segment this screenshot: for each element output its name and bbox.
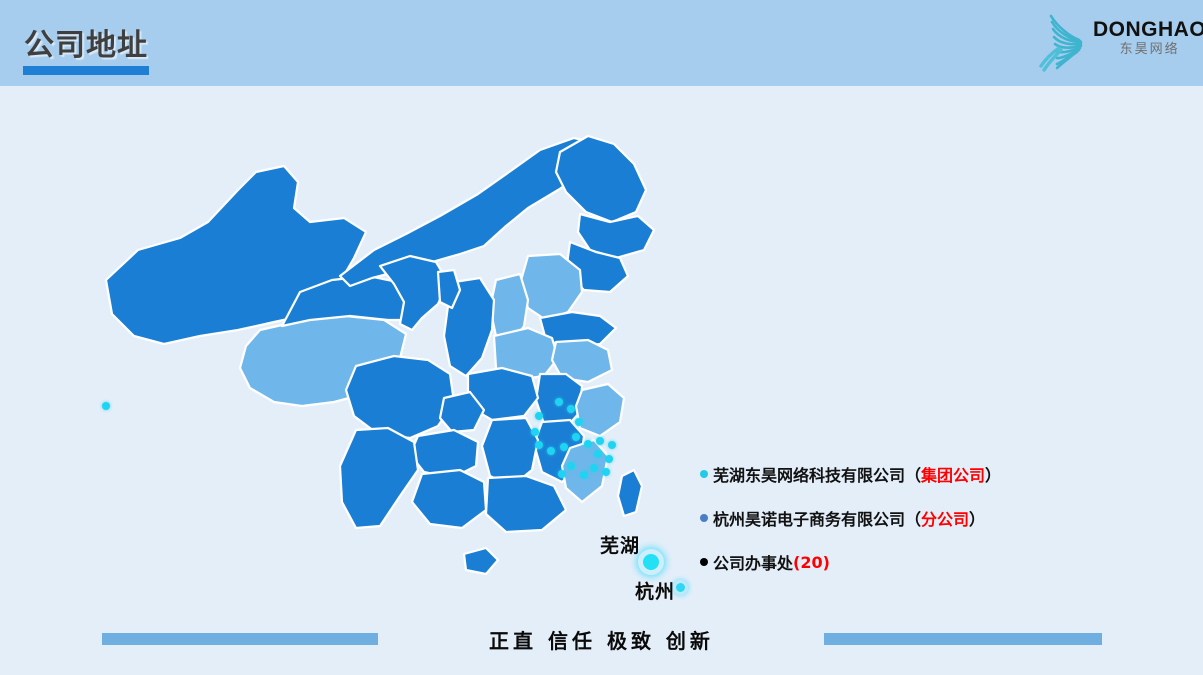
province-guangdong — [486, 476, 566, 532]
page-header: 公司地址 — [0, 0, 1203, 86]
province-hainan — [464, 548, 498, 574]
page-title: 公司地址 — [24, 20, 148, 64]
office-marker — [596, 437, 604, 445]
province-taiwan — [618, 470, 642, 516]
province-zhejiang — [576, 384, 624, 436]
legend-bullet-icon — [700, 558, 708, 566]
logo-wordmark: DONGHAO 东昊网络 — [1093, 18, 1203, 58]
china-map: 芜湖 杭州 — [88, 130, 708, 610]
office-marker — [602, 468, 610, 476]
office-marker — [555, 398, 563, 406]
city-marker-wuhu[interactable] — [638, 549, 664, 575]
feather-fan-icon — [1035, 8, 1095, 72]
office-marker — [580, 471, 588, 479]
office-marker — [575, 418, 583, 426]
city-marker-hangzhou[interactable] — [673, 580, 688, 595]
province-yunnan — [340, 428, 418, 528]
office-marker — [567, 462, 575, 470]
province-hebei — [520, 254, 582, 320]
office-marker — [590, 464, 598, 472]
office-marker — [560, 443, 568, 451]
legend-label: 芜湖东昊网络科技有限公司（ — [713, 462, 921, 486]
footer-bar-right — [824, 633, 1102, 645]
office-marker — [558, 470, 566, 478]
company-logo: DONGHAO 东昊网络 — [1035, 6, 1195, 76]
office-marker — [102, 402, 110, 410]
legend-bullet-icon — [700, 470, 708, 478]
legend-suffix: ） — [985, 462, 1001, 486]
province-sichuan — [346, 356, 454, 438]
office-marker — [531, 428, 539, 436]
province-guangxi — [412, 470, 486, 528]
map-legend: 芜湖东昊网络科技有限公司（ 集团公司 ） 杭州昊诺电子商务有限公司（ 分公司 ）… — [700, 462, 1120, 594]
city-label-hangzhou: 杭州 — [635, 577, 675, 604]
legend-label: 公司办事处 — [713, 550, 793, 574]
province-heilongjiang — [556, 136, 646, 222]
logo-name-cn: 东昊网络 — [1093, 41, 1203, 58]
office-marker — [594, 450, 602, 458]
legend-emphasis: 分公司 — [921, 506, 969, 530]
city-label-wuhu: 芜湖 — [600, 531, 640, 558]
office-marker — [567, 405, 575, 413]
legend-label: 杭州昊诺电子商务有限公司（ — [713, 506, 921, 530]
logo-name-en: DONGHAO — [1093, 18, 1203, 41]
legend-bullet-icon — [700, 514, 708, 522]
office-marker — [535, 441, 543, 449]
office-marker — [547, 447, 555, 455]
legend-item-branch-company: 杭州昊诺电子商务有限公司（ 分公司 ） — [700, 506, 1120, 530]
legend-item-offices: 公司办事处 (20) — [700, 550, 1120, 574]
office-marker — [584, 440, 592, 448]
office-marker — [572, 433, 580, 441]
office-marker — [535, 412, 543, 420]
legend-item-group-company: 芜湖东昊网络科技有限公司（ 集团公司 ） — [700, 462, 1120, 486]
title-underline — [23, 66, 149, 75]
legend-emphasis: (20) — [793, 553, 830, 572]
office-marker — [605, 455, 613, 463]
legend-emphasis: 集团公司 — [921, 462, 985, 486]
office-marker — [608, 441, 616, 449]
legend-suffix: ） — [969, 506, 985, 530]
